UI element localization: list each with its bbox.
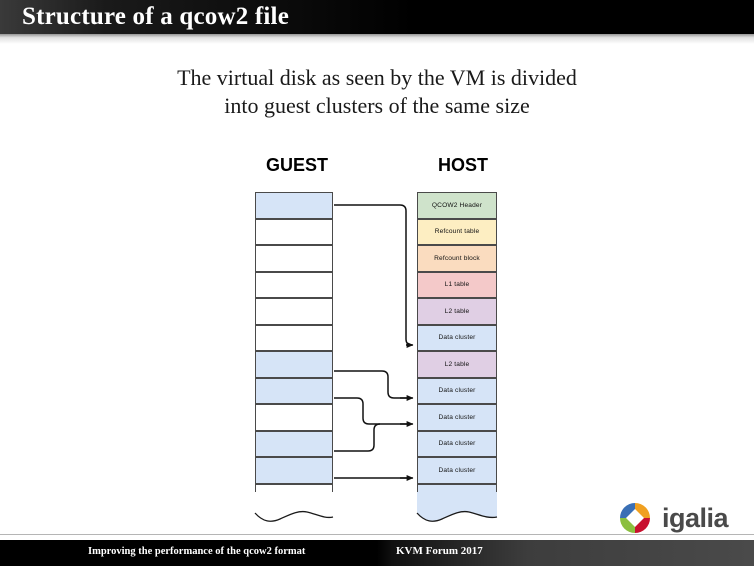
connector-2	[334, 371, 408, 398]
host-column-header: HOST	[404, 155, 522, 176]
host-block: Data cluster	[417, 378, 497, 405]
guest-cluster-cell	[255, 298, 333, 325]
host-block	[417, 484, 497, 511]
connector-3	[334, 398, 408, 424]
host-block: Data cluster	[417, 404, 497, 431]
host-block: L2 table	[417, 298, 497, 325]
guest-cluster-cell	[255, 245, 333, 272]
host-block: Data cluster	[417, 325, 497, 352]
guest-cluster-cell	[255, 192, 333, 219]
host-block: L2 table	[417, 351, 497, 378]
guest-cluster-cell	[255, 431, 333, 458]
guest-cluster-cell	[255, 325, 333, 352]
footer-event-name: KVM Forum 2017	[396, 545, 483, 557]
igalia-logo-text: igalia	[662, 503, 728, 534]
footer-presentation-title: Improving the performance of the qcow2 f…	[88, 546, 305, 557]
qcow2-structure-diagram: GUEST HOST QCOW2 HeaderRefcount tableRef…	[0, 0, 754, 566]
guest-cluster-cell	[255, 272, 333, 299]
host-block: Refcount table	[417, 219, 497, 246]
guest-cluster-cell	[255, 457, 333, 484]
guest-column-header: GUEST	[238, 155, 356, 176]
guest-to-host-connectors	[0, 0, 754, 566]
guest-cluster-cell	[255, 484, 333, 511]
host-block: Refcount block	[417, 245, 497, 272]
guest-cluster-cell	[255, 219, 333, 246]
host-block: Data cluster	[417, 431, 497, 458]
host-block: L1 table	[417, 272, 497, 299]
guest-cluster-cell	[255, 378, 333, 405]
host-block: Data cluster	[417, 457, 497, 484]
connector-1	[334, 205, 412, 345]
guest-cluster-cell	[255, 351, 333, 378]
host-block: QCOW2 Header	[417, 192, 497, 219]
connector-4	[334, 424, 380, 451]
guest-cluster-cell	[255, 404, 333, 431]
